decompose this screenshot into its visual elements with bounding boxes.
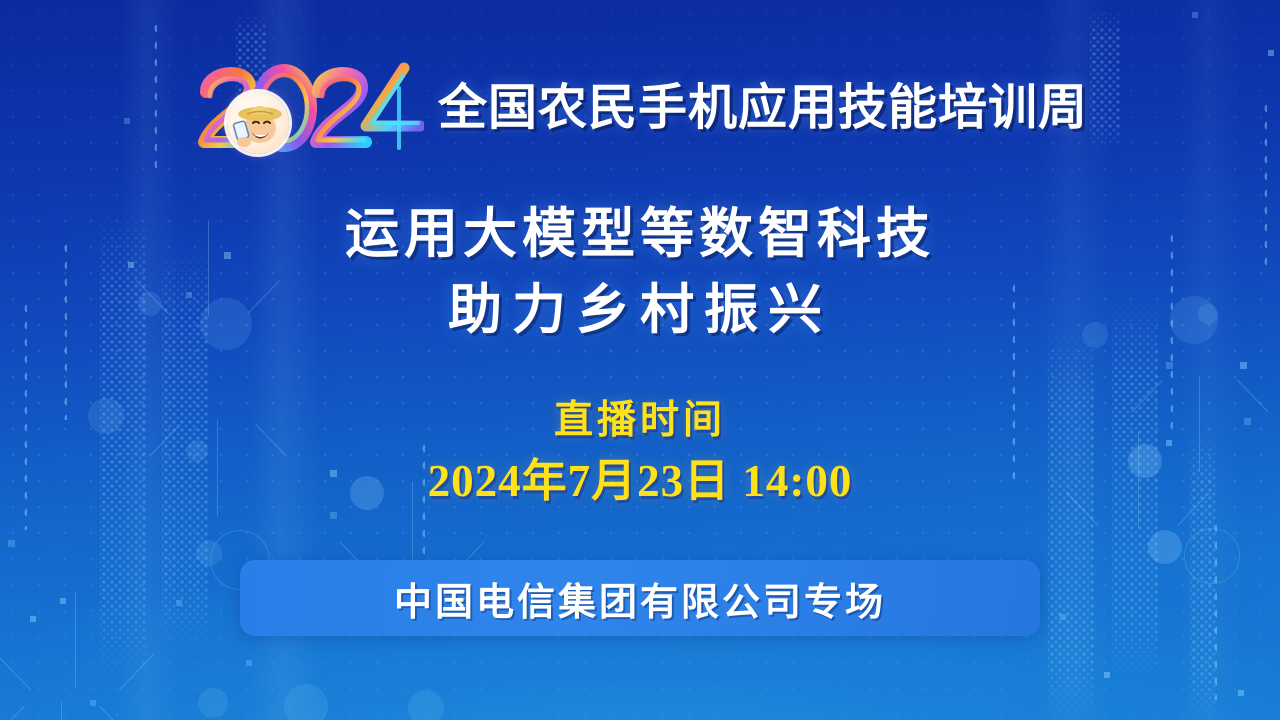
headline-line-2: 助力乡村振兴 [0, 272, 1280, 348]
live-time-label: 直播时间 [0, 396, 1280, 446]
year-2024-logo [192, 56, 424, 160]
sponsor-banner: 中国电信集团有限公司专场 [240, 560, 1040, 636]
live-datetime-value: 2024年7月23日 14:00 [0, 454, 1280, 508]
farmer-mascot-icon [227, 92, 289, 154]
headline: 运用大模型等数智科技 助力乡村振兴 [0, 196, 1280, 348]
sponsor-banner-label: 中国电信集团有限公司专场 [394, 571, 886, 626]
live-time-block: 直播时间 2024年7月23日 14:00 [0, 396, 1280, 508]
headline-line-1: 运用大模型等数智科技 [0, 196, 1280, 272]
page-title: 全国农民手机应用技能培训周 [438, 84, 1088, 133]
poster-header: 全国农民手机应用技能培训周 [0, 52, 1280, 164]
event-poster: 全国农民手机应用技能培训周 运用大模型等数智科技 助力乡村振兴 直播时间 202… [0, 0, 1280, 720]
